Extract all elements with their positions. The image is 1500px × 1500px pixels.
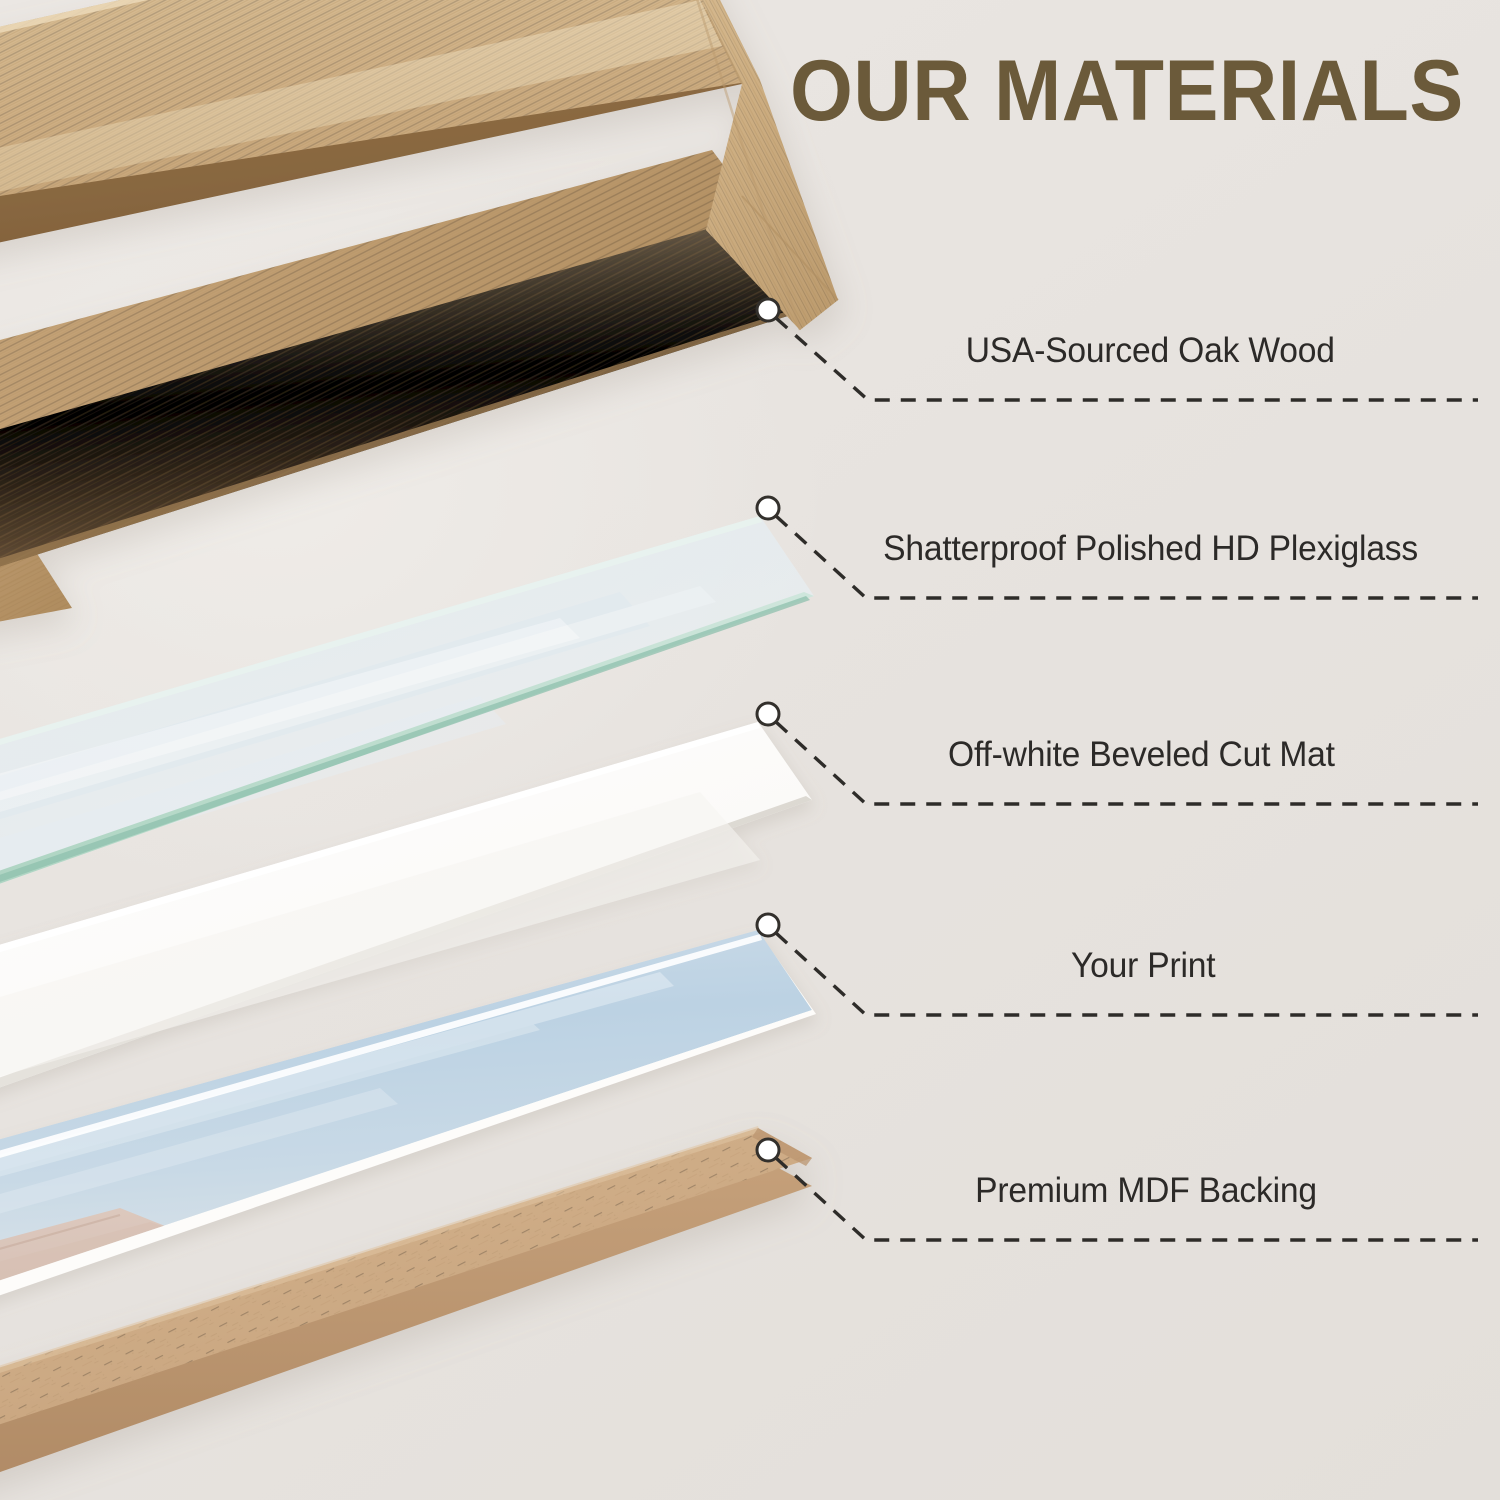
callout-dot-mat <box>757 703 779 725</box>
page-title: OUR MATERIALS <box>790 48 1464 134</box>
callout-label-print: Your Print <box>1071 946 1215 986</box>
materials-infographic: OUR MATERIALS USA-Sourced Oak WoodShatte… <box>0 0 1500 1500</box>
callout-dot-mdf-backing <box>757 1139 779 1161</box>
callout-leader-lines <box>776 318 1478 1240</box>
callout-label-oak-wood: USA-Sourced Oak Wood <box>966 331 1335 371</box>
callout-dot-oak-wood <box>757 299 779 321</box>
callout-label-mat: Off-white Beveled Cut Mat <box>948 735 1335 775</box>
callout-label-mdf-backing: Premium MDF Backing <box>975 1171 1317 1211</box>
callout-dot-plexiglass <box>757 497 779 519</box>
callout-dot-print <box>757 914 779 936</box>
callout-label-plexiglass: Shatterproof Polished HD Plexiglass <box>883 529 1418 569</box>
